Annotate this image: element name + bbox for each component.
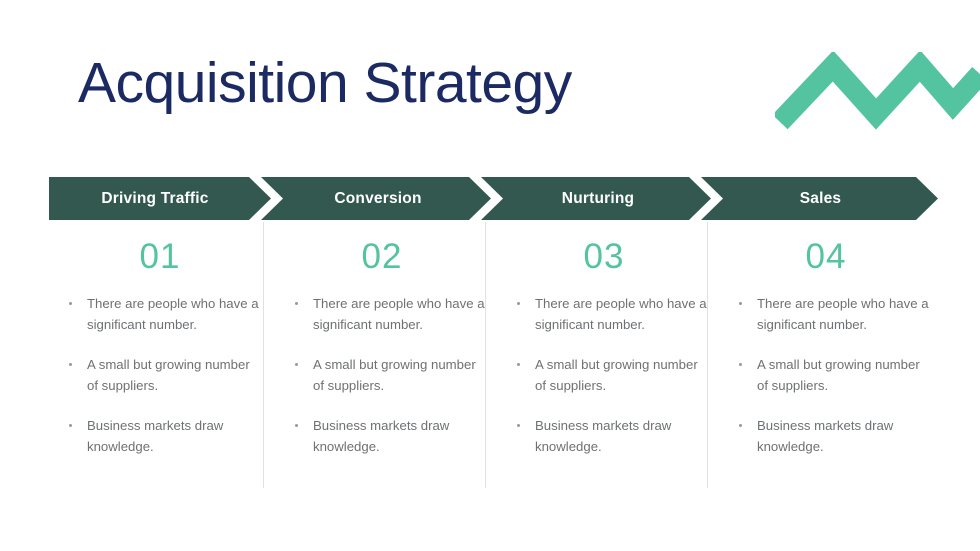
column-divider — [263, 222, 264, 488]
list-item-text: There are people who have a significant … — [313, 296, 485, 332]
bullet-dot-icon — [739, 363, 742, 366]
bullet-list: There are people who have a significant … — [729, 294, 929, 457]
content-columns: 01 There are people who have a significa… — [49, 228, 938, 490]
process-banner: Driving Traffic Conversion Nurturing Sal… — [49, 177, 938, 220]
bullet-dot-icon — [69, 424, 72, 427]
list-item-text: A small but growing number of suppliers. — [313, 357, 476, 393]
banner-step-driving-traffic[interactable]: Driving Traffic — [49, 177, 261, 220]
list-item: A small but growing number of suppliers. — [285, 355, 485, 396]
list-item: Business markets draw knowledge. — [729, 416, 929, 457]
list-item-text: Business markets draw knowledge. — [757, 418, 893, 454]
banner-step-sales[interactable]: Sales — [713, 177, 928, 220]
list-item-text: Business markets draw knowledge. — [535, 418, 671, 454]
column-number: 04 — [715, 236, 937, 278]
list-item-text: Business markets draw knowledge. — [87, 418, 223, 454]
list-item: There are people who have a significant … — [59, 294, 259, 335]
column-number: 02 — [271, 236, 493, 278]
list-item: There are people who have a significant … — [507, 294, 707, 335]
bullet-dot-icon — [69, 302, 72, 305]
zigzag-wave-icon — [775, 52, 980, 132]
banner-step-nurturing[interactable]: Nurturing — [493, 177, 703, 220]
bullet-dot-icon — [517, 302, 520, 305]
bullet-dot-icon — [69, 363, 72, 366]
bullet-list: There are people who have a significant … — [59, 294, 259, 457]
column-number: 01 — [49, 236, 271, 278]
list-item-text: There are people who have a significant … — [535, 296, 707, 332]
bullet-dot-icon — [517, 363, 520, 366]
list-item-text: A small but growing number of suppliers. — [757, 357, 920, 393]
list-item: There are people who have a significant … — [285, 294, 485, 335]
page-title: Acquisition Strategy — [78, 48, 572, 118]
column-03: 03 There are people who have a significa… — [493, 228, 715, 490]
list-item: Business markets draw knowledge. — [285, 416, 485, 457]
bullet-dot-icon — [739, 302, 742, 305]
list-item: Business markets draw knowledge. — [59, 416, 259, 457]
list-item: A small but growing number of suppliers. — [507, 355, 707, 396]
banner-step-conversion[interactable]: Conversion — [273, 177, 483, 220]
bullet-dot-icon — [295, 424, 298, 427]
slide-canvas: Acquisition Strategy Driving Traffic Con… — [0, 0, 980, 551]
column-divider — [485, 222, 486, 488]
list-item-text: Business markets draw knowledge. — [313, 418, 449, 454]
column-02: 02 There are people who have a significa… — [271, 228, 493, 490]
column-number: 03 — [493, 236, 715, 278]
list-item-text: A small but growing number of suppliers. — [87, 357, 250, 393]
column-divider — [707, 222, 708, 488]
list-item-text: There are people who have a significant … — [757, 296, 929, 332]
list-item-text: A small but growing number of suppliers. — [535, 357, 698, 393]
bullet-dot-icon — [739, 424, 742, 427]
column-01: 01 There are people who have a significa… — [49, 228, 271, 490]
bullet-dot-icon — [295, 363, 298, 366]
list-item: A small but growing number of suppliers. — [729, 355, 929, 396]
list-item: Business markets draw knowledge. — [507, 416, 707, 457]
bullet-dot-icon — [517, 424, 520, 427]
list-item-text: There are people who have a significant … — [87, 296, 259, 332]
list-item: A small but growing number of suppliers. — [59, 355, 259, 396]
list-item: There are people who have a significant … — [729, 294, 929, 335]
column-04: 04 There are people who have a significa… — [715, 228, 937, 490]
bullet-list: There are people who have a significant … — [507, 294, 707, 457]
bullet-dot-icon — [295, 302, 298, 305]
bullet-list: There are people who have a significant … — [285, 294, 485, 457]
